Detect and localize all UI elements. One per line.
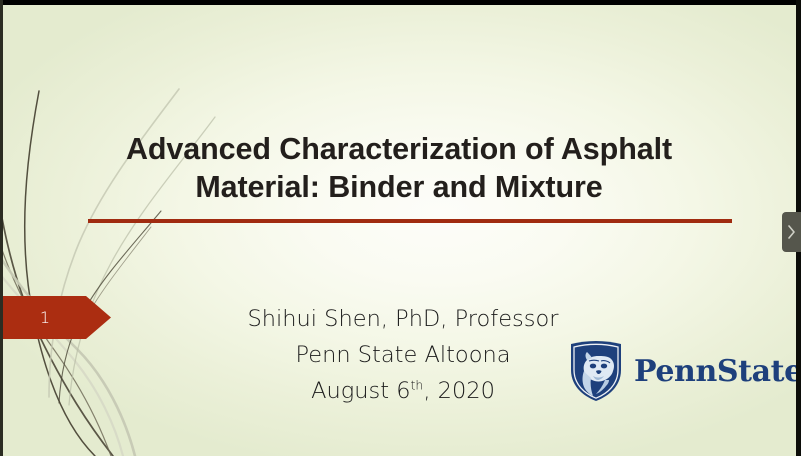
slide-canvas: Advanced Characterization of Asphalt Mat… — [3, 5, 796, 456]
chevron-right-icon — [787, 225, 796, 239]
slide-subtitle-block: Shihui Shen, PhD, Professor Penn State A… — [193, 301, 613, 409]
subtitle-affiliation: Penn State Altoona — [193, 337, 613, 373]
subtitle-presenter: Shihui Shen, PhD, Professor — [193, 301, 613, 337]
window-left-edge — [0, 0, 3, 456]
title-divider-rule — [88, 219, 732, 223]
next-slide-button[interactable] — [782, 212, 801, 252]
subtitle-date-main: August 6 — [311, 378, 410, 404]
penn-state-logo: PennState — [569, 337, 774, 405]
subtitle-date-year: , 2020 — [423, 378, 495, 404]
subtitle-date: August 6th, 2020 — [193, 373, 613, 409]
slide-number-badge: 1 — [3, 296, 111, 339]
subtitle-date-ordinal: th — [411, 378, 424, 393]
slide-title-block: Advanced Characterization of Asphalt Mat… — [63, 130, 735, 206]
penn-state-shield-lion-icon — [569, 340, 623, 402]
page-title: Advanced Characterization of Asphalt Mat… — [63, 130, 735, 206]
penn-state-wordmark: PennState — [634, 354, 796, 389]
presentation-slide-window: Advanced Characterization of Asphalt Mat… — [0, 0, 801, 456]
slide-number-label: 1 — [3, 296, 90, 339]
window-top-bar — [0, 0, 801, 5]
